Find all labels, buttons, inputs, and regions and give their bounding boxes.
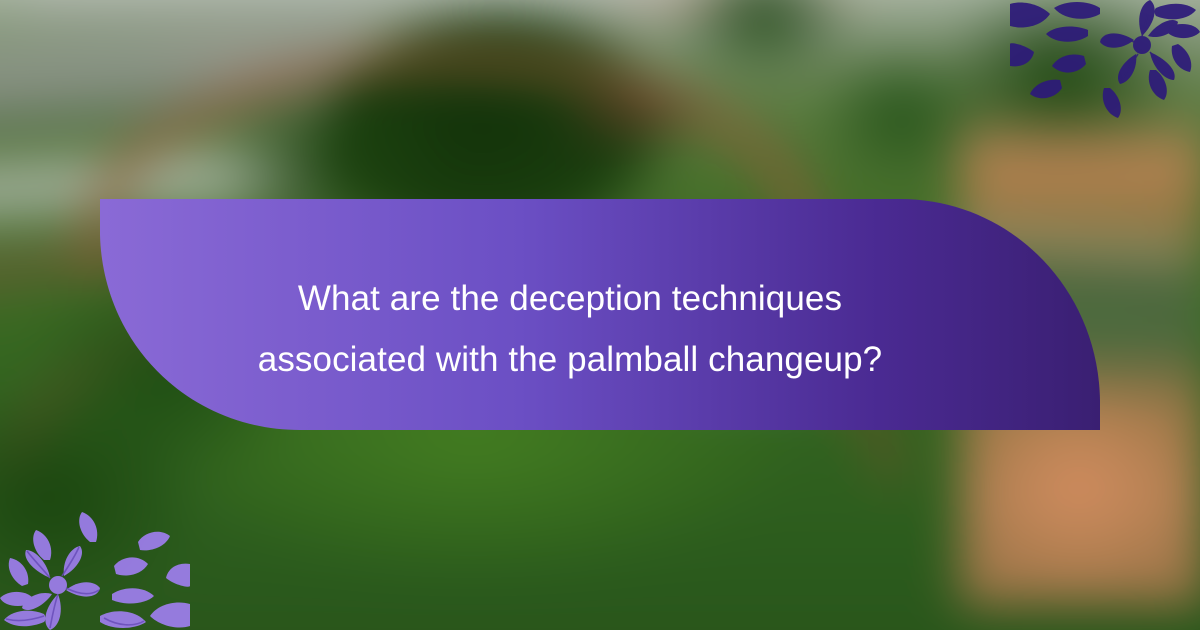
ornament-bottom-left-floral-icon <box>0 500 190 630</box>
ornament-top-right-floral-icon <box>1010 0 1200 130</box>
social-card: What are the deception techniques associ… <box>0 0 1200 630</box>
background-pitching-mound <box>552 77 722 141</box>
background-right-dirt-2 <box>1003 373 1194 596</box>
background-bench <box>685 373 823 405</box>
